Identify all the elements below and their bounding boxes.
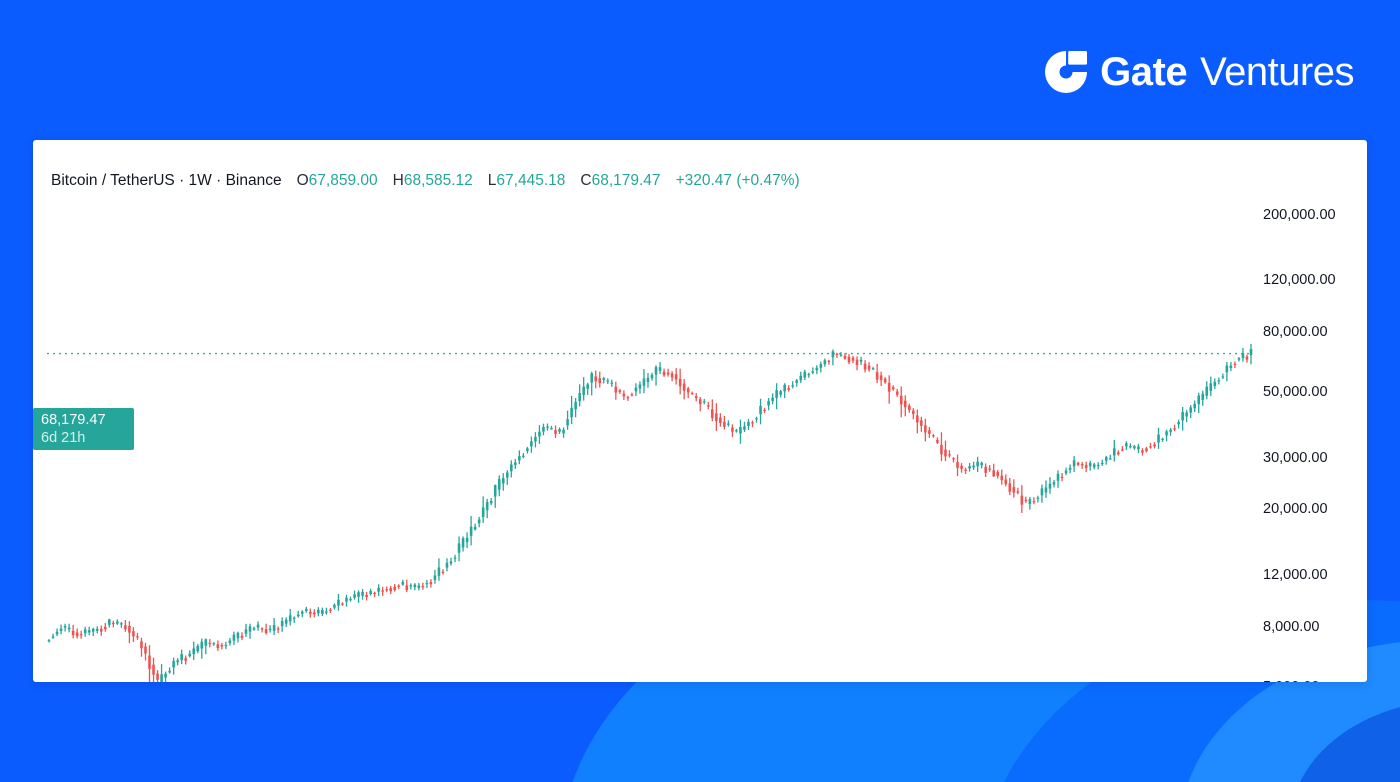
ohlc-high: H68,585.12 [393, 172, 473, 190]
chart-symbol-label: Bitcoin / TetherUS · 1W · Binance [51, 172, 282, 190]
brand-name-ventures: Ventures [1200, 51, 1354, 93]
candlestick-plot[interactable] [47, 198, 1253, 682]
price-axis[interactable]: 200,000.00120,000.0080,000.0050,000.0030… [1255, 140, 1367, 610]
current-price-badge: 68,179.47 6d 21h [33, 408, 134, 450]
price-tick: 50,000.00 [1263, 384, 1328, 400]
chart-card: Bitcoin / TetherUS · 1W · Binance O67,85… [33, 140, 1367, 682]
price-tick: 30,000.00 [1263, 450, 1328, 466]
gate-g-icon [1045, 51, 1087, 93]
price-tick: 8,000.00 [1263, 619, 1319, 635]
price-tick: 20,000.00 [1263, 501, 1328, 517]
price-tick: 12,000.00 [1263, 567, 1328, 583]
price-tick: 5,000.00 [1263, 679, 1319, 682]
ohlc-low: L67,445.18 [488, 172, 566, 190]
price-tick: 80,000.00 [1263, 324, 1328, 340]
brand-wordmark: Gate Ventures [1100, 51, 1354, 93]
chart-legend: Bitcoin / TetherUS · 1W · Binance O67,85… [51, 172, 800, 190]
bar-countdown: 6d 21h [41, 429, 134, 447]
ohlc-change: +320.47 (+0.47%) [676, 172, 800, 190]
price-tick: 200,000.00 [1263, 207, 1336, 223]
ohlc-close: C68,179.47 [580, 172, 660, 190]
current-price-value: 68,179.47 [41, 411, 134, 429]
brand-name-gate: Gate [1100, 51, 1187, 93]
ohlc-open: O67,859.00 [297, 172, 378, 190]
price-tick: 120,000.00 [1263, 272, 1336, 288]
brand-logo: Gate Ventures [1045, 48, 1354, 96]
